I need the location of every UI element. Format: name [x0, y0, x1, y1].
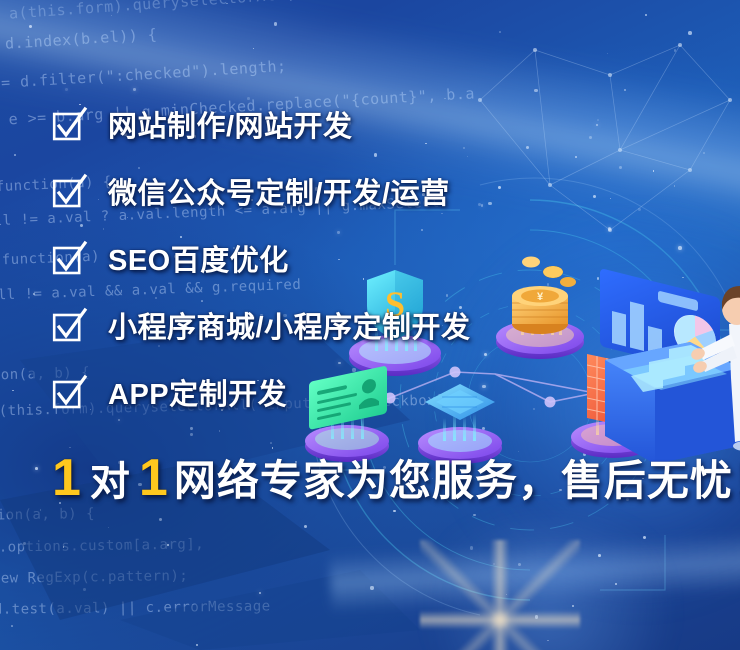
checkbox-checked-icon[interactable]	[52, 107, 86, 141]
lens-flare-star	[420, 540, 580, 650]
checkbox-checked-icon[interactable]	[52, 174, 86, 208]
headline-number-first: 1	[52, 452, 81, 504]
feature-label: 小程序商城/小程序定制开发	[108, 304, 471, 346]
feature-list: 网站制作/网站开发 微信公众号定制/开发/运营 SEO百度优化	[52, 98, 692, 433]
promo-banner: = a(this.form).queryselectorAll("input[t…	[0, 0, 740, 650]
feature-item-1[interactable]: 微信公众号定制/开发/运营	[52, 165, 692, 217]
feature-label: 网站制作/网站开发	[108, 103, 353, 145]
headline-word: 对	[81, 462, 139, 502]
feature-label: SEO百度优化	[108, 237, 289, 279]
feature-item-4[interactable]: APP定制开发	[52, 366, 692, 418]
feature-label: APP定制开发	[108, 371, 287, 413]
feature-item-0[interactable]: 网站制作/网站开发	[52, 98, 692, 150]
checkbox-checked-icon[interactable]	[52, 375, 86, 409]
headline-rest: 网络专家为您服务，售后无忧！	[174, 460, 740, 502]
checkbox-checked-icon[interactable]	[52, 241, 86, 275]
headline-number-second: 1	[139, 452, 168, 504]
checkbox-checked-icon[interactable]	[52, 308, 86, 342]
feature-item-2[interactable]: SEO百度优化	[52, 232, 692, 284]
feature-item-3[interactable]: 小程序商城/小程序定制开发	[52, 299, 692, 351]
headline: 1 对 1 网络专家为您服务，售后无忧！	[52, 452, 740, 504]
feature-label: 微信公众号定制/开发/运营	[108, 170, 450, 212]
